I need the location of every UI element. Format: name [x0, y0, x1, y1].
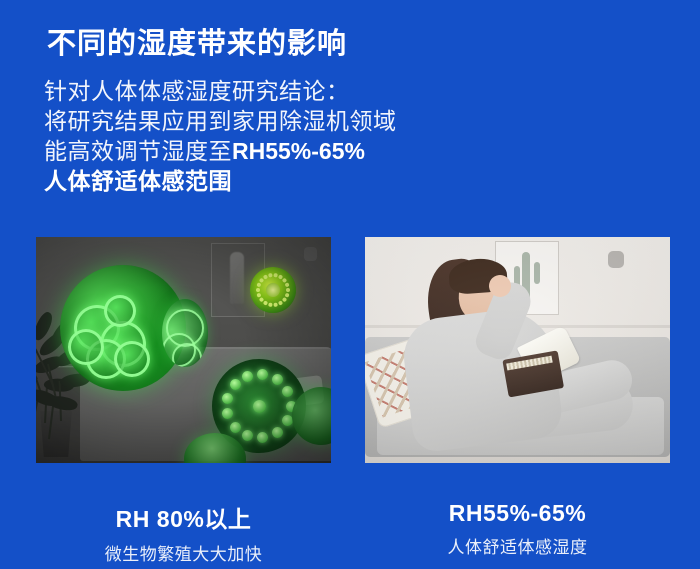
caption-high-humidity: RH 80%以上 微生物繁殖大大加快	[36, 500, 331, 565]
copy-line-3-prefix: 能高效调节湿度至	[44, 138, 232, 164]
dark-room-scene	[36, 237, 331, 463]
caption-title: RH 80%以上	[36, 500, 331, 534]
photo-high-humidity	[36, 237, 331, 463]
photo-comfort-humidity	[365, 237, 670, 463]
caption-comfort-humidity: RH55%-65% 人体舒适体感湿度	[365, 500, 670, 558]
caption-subtitle: 微生物繁殖大大加快	[36, 540, 331, 565]
humidity-range-highlight: RH55%-65%	[232, 138, 365, 164]
page-title: 不同的湿度带来的影响	[47, 20, 347, 62]
copy-line-1: 针对人体体感湿度研究结论：	[44, 76, 504, 106]
scene-vignette	[365, 237, 670, 463]
caption-subtitle: 人体舒适体感湿度	[365, 533, 670, 558]
body-copy: 针对人体体感湿度研究结论： 将研究结果应用到家用除湿机领域 能高效调节湿度至RH…	[44, 76, 504, 196]
copy-line-4: 人体舒适体感范围	[44, 166, 504, 196]
bright-room-scene	[365, 237, 670, 463]
caption-title: RH55%-65%	[365, 500, 670, 527]
scene-vignette	[36, 237, 331, 463]
copy-line-3: 能高效调节湿度至RH55%-65%	[44, 136, 504, 166]
infographic-page: 不同的湿度带来的影响 针对人体体感湿度研究结论： 将研究结果应用到家用除湿机领域…	[0, 0, 700, 569]
copy-line-2: 将研究结果应用到家用除湿机领域	[44, 106, 504, 136]
